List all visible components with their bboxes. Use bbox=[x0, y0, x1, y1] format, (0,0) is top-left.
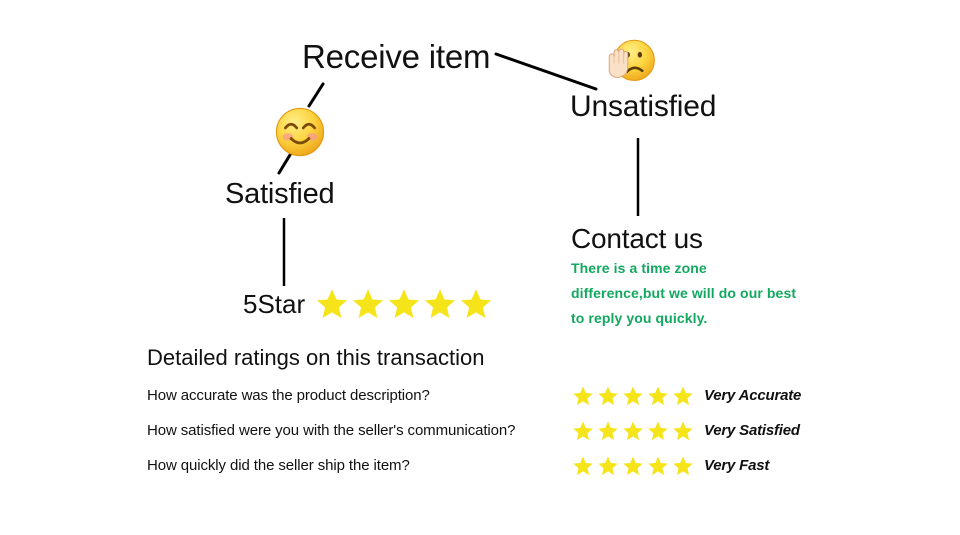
table-row: How satisfied were you with the seller's… bbox=[147, 413, 827, 448]
rating-verdict: Very Satisfied bbox=[704, 422, 800, 439]
frowning-face-with-raised-hand-emoji bbox=[602, 36, 660, 92]
detailed-ratings-heading: Detailed ratings on this transaction bbox=[147, 344, 485, 372]
star-icon bbox=[672, 420, 694, 442]
five-star-stars bbox=[315, 287, 493, 321]
star-icon bbox=[647, 420, 669, 442]
contact-us-message: There is a time zone difference,but we w… bbox=[571, 256, 801, 331]
five-star-label: 5Star bbox=[243, 288, 305, 320]
satisfied-label: Satisfied bbox=[225, 177, 334, 212]
rating-question: How accurate was the product description… bbox=[147, 386, 572, 406]
rating-stars bbox=[572, 385, 704, 407]
connector-receive-to-satisfied-upper bbox=[309, 84, 323, 106]
star-icon bbox=[672, 455, 694, 477]
star-icon bbox=[315, 287, 349, 321]
star-icon bbox=[597, 420, 619, 442]
connector-receive-to-unsatisfied bbox=[496, 54, 596, 89]
contact-us-heading: Contact us bbox=[571, 222, 703, 256]
star-icon bbox=[622, 455, 644, 477]
rating-question: How quickly did the seller ship the item… bbox=[147, 456, 572, 476]
star-icon bbox=[572, 420, 594, 442]
rating-stars bbox=[572, 420, 704, 442]
receive-item-label: Receive item bbox=[302, 38, 490, 76]
star-icon bbox=[572, 385, 594, 407]
five-star-rating-row: 5Star bbox=[243, 287, 493, 321]
rating-stars bbox=[572, 455, 704, 477]
star-icon bbox=[423, 287, 457, 321]
rating-verdict: Very Fast bbox=[704, 457, 769, 474]
star-icon bbox=[572, 455, 594, 477]
rating-verdict: Very Accurate bbox=[704, 387, 801, 404]
star-icon bbox=[622, 420, 644, 442]
star-icon bbox=[459, 287, 493, 321]
rating-question: How satisfied were you with the seller's… bbox=[147, 421, 572, 441]
star-icon bbox=[597, 455, 619, 477]
infographic-canvas: Receive item Satisfied 5Star bbox=[0, 0, 960, 535]
unsatisfied-label: Unsatisfied bbox=[570, 89, 716, 125]
table-row: How quickly did the seller ship the item… bbox=[147, 448, 827, 483]
detailed-ratings-table: How accurate was the product description… bbox=[147, 378, 827, 483]
star-icon bbox=[672, 385, 694, 407]
star-icon bbox=[351, 287, 385, 321]
smiling-face-with-smiling-eyes-emoji bbox=[274, 106, 326, 162]
star-icon bbox=[622, 385, 644, 407]
star-icon bbox=[647, 385, 669, 407]
star-icon bbox=[597, 385, 619, 407]
star-icon bbox=[387, 287, 421, 321]
table-row: How accurate was the product description… bbox=[147, 378, 827, 413]
star-icon bbox=[647, 455, 669, 477]
